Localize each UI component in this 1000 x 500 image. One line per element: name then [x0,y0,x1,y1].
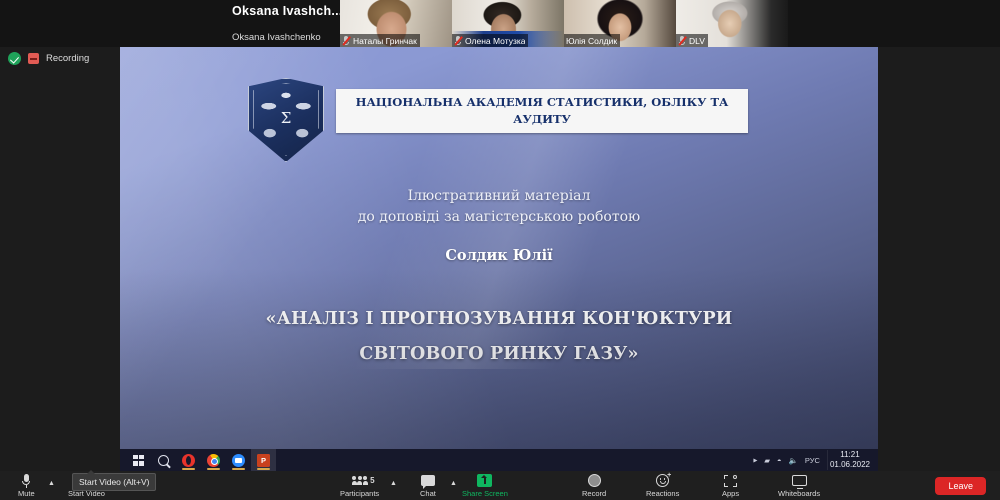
leave-button[interactable]: Leave [935,477,986,495]
powerpoint-icon[interactable]: P [251,449,276,471]
record-icon [588,473,601,488]
participant-thumbnail-active[interactable]: Юлія Солдик [564,0,676,47]
system-tray: ▾ ▰ ◓ 🔈 РУС 11:21 01.06.2022 [753,450,878,470]
slide-banner: НАЦІОНАЛЬНА АКАДЕМІЯ СТАТИСТИКИ, ОБЛІКУ … [336,89,748,133]
record-button[interactable]: Record [582,473,606,500]
participant-name: DLV [689,36,705,46]
audio-options-chevron-icon[interactable]: ▲ [48,480,55,487]
active-speaker-subname: Oksana Ivashchenko [232,32,321,43]
participants-label: Participants [340,489,379,498]
start-video-tooltip: Start Video (Alt+V) [72,473,156,491]
wifi-icon[interactable]: ◓ [777,456,782,465]
participant-name: Олена Мотузка [465,36,525,46]
mute-button[interactable]: Mute [18,473,35,500]
taskbar-clock[interactable]: 11:21 01.06.2022 [827,450,872,470]
taskbar-icon-group: P [120,449,276,471]
microphone-icon [22,473,31,488]
share-screen-icon [477,473,492,488]
participant-namebar: Олена Мотузка [452,34,528,47]
whiteboards-icon [792,473,807,488]
apps-label: Apps [722,489,739,498]
active-speaker-name: Oksana Ivashch... [232,4,343,18]
shared-screen-slide: Σ НАЦІОНАЛЬНА АКАДЕМІЯ СТАТИСТИКИ, ОБЛІК… [120,47,878,449]
slide-main-title: «АНАЛІЗ І ПРОГНОЗУВАННЯ КОН'ЮКТУРИ СВІТО… [120,302,878,372]
recording-indicator[interactable]: Recording [8,52,89,65]
chat-button[interactable]: Chat [420,473,436,500]
windows-taskbar: P ▾ ▰ ◓ 🔈 РУС 11:21 01.06.2022 [120,449,878,471]
zoom-meeting-window: Oksana Ivashch... Oksana Ivashchenko Нат… [0,0,1000,500]
search-icon[interactable] [151,449,176,471]
participants-button[interactable]: 5 Participants [340,473,379,500]
participant-name: Юлія Солдик [566,36,617,46]
video-filmstrip: Oksana Ivashch... Oksana Ivashchenko Нат… [0,0,1000,47]
participant-name: Наталы Гринчак [353,36,417,46]
participant-thumbnail[interactable]: DLV [676,0,788,47]
share-screen-button[interactable]: Share Screen [462,473,508,500]
reactions-label: Reactions [646,489,679,498]
participant-thumbnail[interactable]: Олена Мотузка [452,0,564,47]
zoom-icon[interactable] [226,449,251,471]
participant-thumbnail[interactable]: Наталы Гринчак [340,0,452,47]
academy-crest-icon: Σ [248,78,324,162]
participant-namebar: Наталы Гринчак [340,34,420,47]
apps-button[interactable]: Apps [722,473,739,500]
chrome-icon[interactable] [201,449,226,471]
recording-label: Recording [46,53,89,64]
slide-subtitle-line1: Ілюстративний матеріал [120,186,878,207]
tray-expand-chevron-icon[interactable]: ▾ [751,458,760,462]
record-label: Record [582,489,606,498]
clock-date: 01.06.2022 [830,460,870,470]
crest-sigma-glyph: Σ [248,109,324,127]
slide-subtitle-line2: до доповіді за магістерською роботою [120,207,878,228]
reactions-button[interactable]: + Reactions [646,473,679,500]
clock-time: 11:21 [830,450,870,460]
whiteboards-button[interactable]: Whiteboards [778,473,820,500]
participants-count: 5 [370,476,374,485]
opera-icon[interactable] [176,449,201,471]
chat-chevron-icon[interactable]: ▲ [450,480,457,487]
volume-icon[interactable]: 🔈 [789,456,798,465]
slide-banner-title: НАЦІОНАЛЬНА АКАДЕМІЯ СТАТИСТИКИ, ОБЛІКУ … [336,89,748,132]
recording-stop-icon[interactable] [28,53,39,64]
mic-muted-icon [678,35,686,46]
chat-icon [421,473,435,488]
mute-label: Mute [18,489,35,498]
encryption-shield-icon[interactable] [8,52,21,65]
mic-muted-icon [454,35,462,46]
participants-icon: 5 [351,473,368,488]
participant-namebar: DLV [676,34,708,47]
apps-icon [724,473,737,488]
slide-author: Солдик Юлії [120,247,878,264]
whiteboards-label: Whiteboards [778,489,820,498]
battery-icon[interactable]: ▰ [764,456,770,465]
slide-title-line2: СВІТОВОГО РИНКУ ГАЗУ» [120,337,878,372]
slide-title-line1: «АНАЛІЗ І ПРОГНОЗУВАННЯ КОН'ЮКТУРИ [120,302,878,337]
slide-subtitle: Ілюстративний матеріал до доповіді за ма… [120,186,878,228]
reactions-icon: + [656,473,669,488]
windows-start-icon[interactable] [126,449,151,471]
share-screen-label: Share Screen [462,489,508,498]
language-indicator[interactable]: РУС [805,456,820,465]
participant-namebar: Юлія Солдик [564,34,620,47]
chat-label: Chat [420,489,436,498]
participants-chevron-icon[interactable]: ▲ [390,480,397,487]
mic-muted-icon [342,35,350,46]
